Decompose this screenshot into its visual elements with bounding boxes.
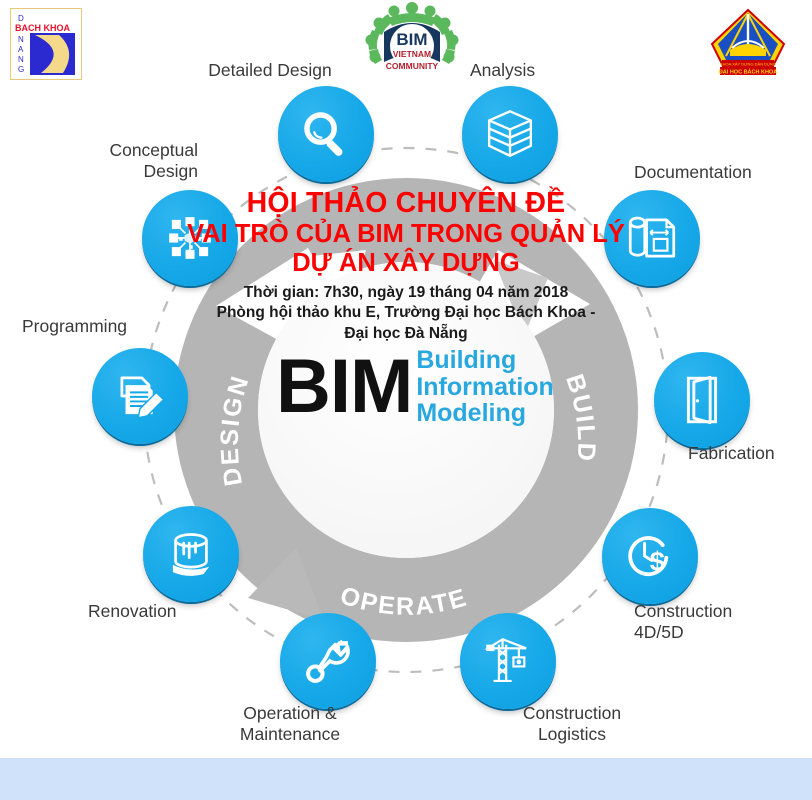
- node-fabrication[interactable]: [654, 352, 750, 448]
- document-pen-icon: [111, 367, 169, 425]
- label-renovation: Renovation: [88, 601, 238, 622]
- label-operation-maintenance: Operation & Maintenance: [200, 703, 380, 744]
- bim-vietnam-community-logo: BIM VIETNAM COMMUNITY: [358, 2, 466, 76]
- node-detailed-design[interactable]: [278, 86, 374, 182]
- label-analysis: Analysis: [470, 60, 610, 81]
- clock-dollar-icon: $: [621, 527, 679, 585]
- emblem-banner-top: KHOA XÂY DỰNG DÂN DỤNG: [720, 62, 776, 67]
- svg-text:A: A: [18, 45, 24, 54]
- label-detailed-design: Detailed Design: [190, 60, 350, 81]
- node-renovation[interactable]: [143, 506, 239, 602]
- magnifier-icon: [297, 105, 355, 163]
- door-icon: [673, 371, 731, 429]
- bim-acronym: BIM: [276, 352, 412, 422]
- logo-left-title: BACH KHOA: [15, 23, 70, 33]
- wrench-icon: [299, 632, 357, 690]
- bim-word-building: Building: [416, 346, 516, 374]
- label-documentation: Documentation: [634, 162, 810, 183]
- logo-center-community: COMMUNITY: [386, 61, 439, 71]
- node-operation-maintenance[interactable]: [280, 613, 376, 709]
- event-time: Thời gian: 7h30, ngày 19 tháng 04 năm 20…: [186, 283, 626, 303]
- bottom-color-band: [0, 758, 812, 800]
- event-venue-line-1: Phòng hội thảo khu E, Trường Đại học Bác…: [186, 303, 626, 323]
- svg-text:N: N: [18, 55, 24, 64]
- svg-text:G: G: [18, 65, 24, 74]
- label-construction-4d-5d: Construction 4D/5D: [634, 601, 774, 642]
- logo-left-d: D: [18, 14, 24, 23]
- bim-word-modeling: Modeling: [416, 399, 526, 427]
- paint-bucket-icon: [162, 525, 220, 583]
- headline-block: HỘI THẢO CHUYÊN ĐỀ VAI TRÒ CỦA BIM TRONG…: [186, 188, 626, 344]
- blueprint-roll-icon: [623, 209, 681, 267]
- bim-expansion: Building Information Modeling: [416, 347, 554, 427]
- svg-text:N: N: [18, 35, 24, 44]
- label-construction-logistics: Construction Logistics: [492, 703, 652, 744]
- node-construction-4d-5d[interactable]: $: [602, 508, 698, 604]
- event-venue-line-2: Đại học Đà Nẵng: [186, 324, 626, 344]
- logo-center-bim: BIM: [396, 30, 427, 49]
- svg-text:$: $: [650, 546, 665, 577]
- label-programming: Programming: [22, 316, 172, 337]
- poster-canvas: DESIGN BUILD OPERATE BIM Building Inform…: [0, 0, 812, 800]
- cube-layers-icon: [481, 105, 539, 163]
- tower-crane-icon: [479, 632, 537, 690]
- headline-info: Thời gian: 7h30, ngày 19 tháng 04 năm 20…: [186, 283, 626, 344]
- headline-line-3: DỰ ÁN XÂY DỰNG: [186, 249, 626, 278]
- node-programming[interactable]: [92, 348, 188, 444]
- node-analysis[interactable]: [462, 86, 558, 182]
- dut-bach-khoa-logo: D BACH KHOA N A N G: [10, 8, 82, 80]
- bim-wordmark: BIM Building Information Modeling: [276, 338, 546, 436]
- label-fabrication: Fabrication: [688, 443, 812, 464]
- headline-line-2: VAI TRÒ CỦA BIM TRONG QUẢN LÝ: [186, 220, 626, 249]
- bim-word-information: Information: [416, 373, 554, 401]
- node-construction-logistics[interactable]: [460, 613, 556, 709]
- headline-line-1: HỘI THẢO CHUYÊN ĐỀ: [186, 188, 626, 220]
- emblem-banner-bottom: ĐẠI HỌC BÁCH KHOA: [719, 69, 777, 76]
- logo-center-vietnam: VIETNAM: [393, 49, 431, 59]
- dai-hoc-bach-khoa-emblem: KHOA XÂY DỰNG DÂN DỤNG ĐẠI HỌC BÁCH KHOA: [706, 4, 790, 82]
- label-conceptual-design: Conceptual Design: [80, 140, 198, 181]
